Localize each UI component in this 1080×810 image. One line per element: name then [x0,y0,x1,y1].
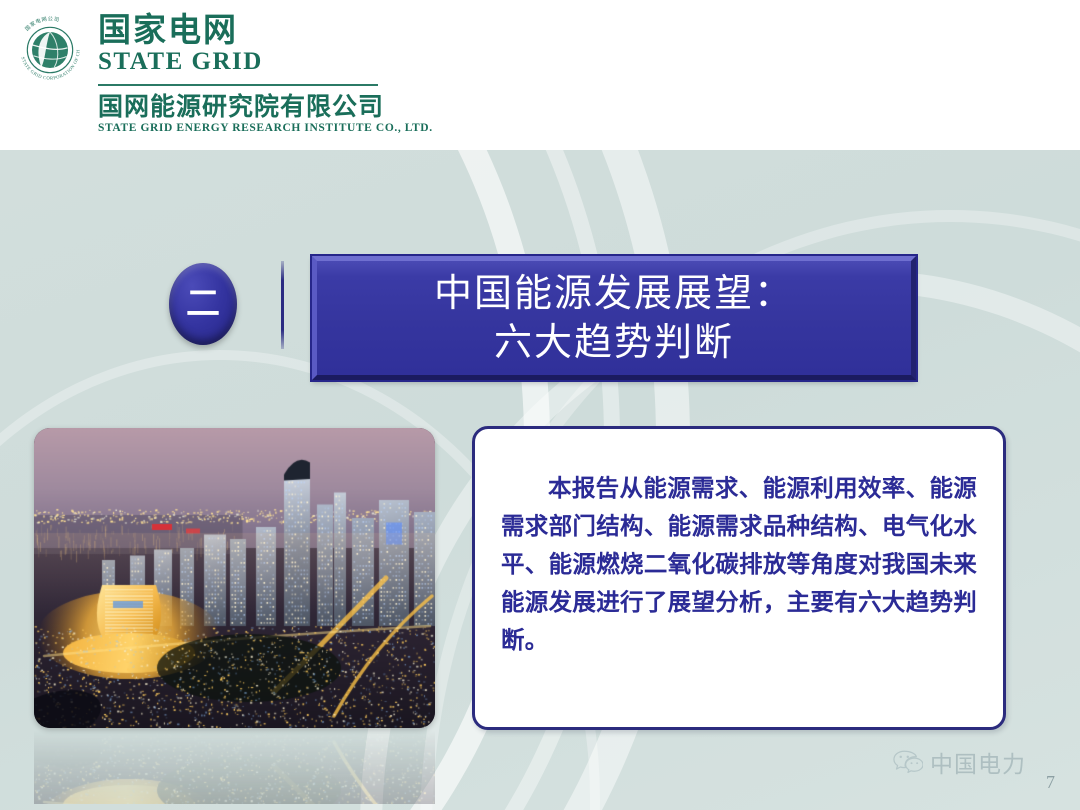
section-title-line-1: 中国能源发展展望： [434,269,794,318]
brand-name-cn: 国家电网 [98,12,433,48]
slide-header: 国家电网公司 STATE GRID CORPORATION OF CHINA 国… [0,0,1080,150]
institute-name-en: STATE GRID ENERGY RESEARCH INSTITUTE CO.… [98,122,433,134]
page-number: 7 [1046,772,1055,793]
cityscape-photo-canvas [34,428,435,728]
cityscape-photo [34,428,435,728]
wechat-watermark: 中国电力 [893,745,1026,779]
section-title-line-2: 六大趋势判断 [494,318,734,367]
logo-text-wrap: 国家电网 STATE GRID 国网能源研究院有限公司 STATE GRID E… [98,12,433,134]
cityscape-photo-reflection [34,730,435,804]
state-grid-globe-emblem-icon: 国家电网公司 STATE GRID CORPORATION OF CHINA [14,14,86,86]
wechat-icon [893,749,923,775]
logo-divider-rule [98,84,378,86]
brand-name-en: STATE GRID [98,49,433,75]
organization-logo-block: 国家电网公司 STATE GRID CORPORATION OF CHINA 国… [14,12,433,134]
section-title-banner: 中国能源发展展望： 六大趋势判断 [312,256,916,380]
slide-root: 国家电网公司 STATE GRID CORPORATION OF CHINA 国… [0,0,1080,810]
summary-paragraph: 本报告从能源需求、能源利用效率、能源需求部门结构、能源需求品种结构、电气化水平、… [501,469,977,659]
watermark-label: 中国电力 [930,745,1026,779]
badge-vertical-divider [281,261,284,349]
svg-text:国家电网公司: 国家电网公司 [24,16,61,33]
section-number-label: 二 [186,287,220,321]
cityscape-reflection-canvas [34,730,435,804]
summary-text-card: 本报告从能源需求、能源利用效率、能源需求部门结构、能源需求品种结构、电气化水平、… [472,426,1006,730]
section-number-badge: 二 [169,263,237,345]
institute-name-cn: 国网能源研究院有限公司 [98,93,433,121]
